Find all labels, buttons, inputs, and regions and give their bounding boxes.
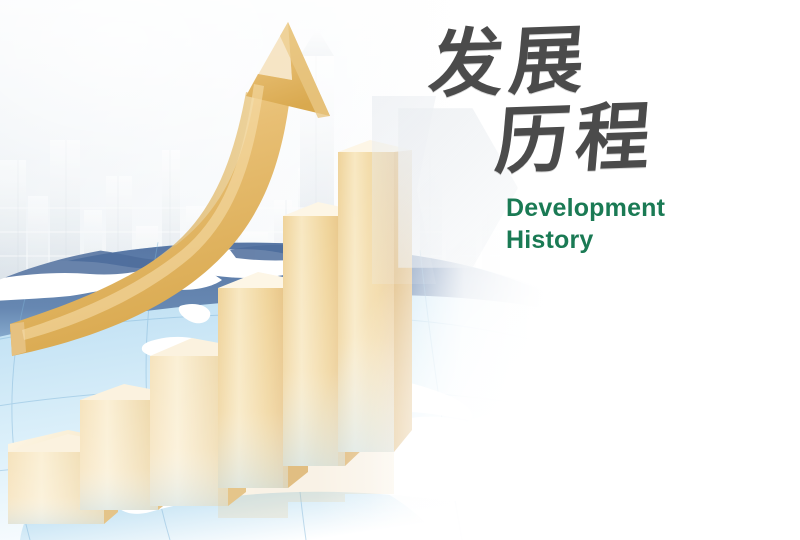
development-history-banner: 发展 历程 Development History [0,0,800,540]
title-chinese-line2: 历程 [492,92,748,185]
title-block: 发展 历程 Development History [424,18,744,256]
title-english-line2: History [506,224,744,256]
title-english-line1: Development [506,192,744,224]
